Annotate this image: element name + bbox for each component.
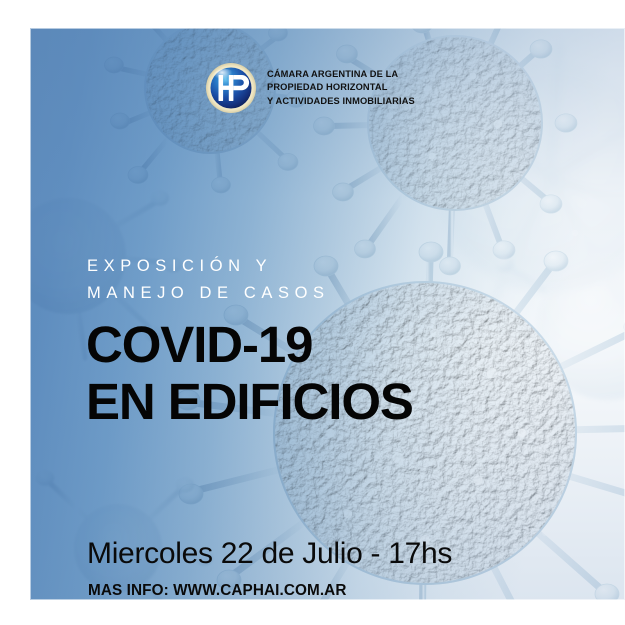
kicker-line-2: MANEJO DE CASOS (87, 280, 330, 307)
poster-content: CÁMARA ARGENTINA DE LA PROPIEDAD HORIZON… (30, 28, 625, 600)
headline-text: COVID-19 EN EDIFICIOS (86, 316, 413, 430)
headline-line-1: COVID-19 (86, 316, 413, 373)
event-date-line: Miercoles 22 de Julio - 17hs (87, 537, 452, 571)
poster-canvas: CÁMARA ARGENTINA DE LA PROPIEDAD HORIZON… (0, 0, 625, 625)
more-info-line: MAS INFO: WWW.CAPHAI.COM.AR (88, 582, 346, 600)
org-name-line-3: Y ACTIVIDADES INMOBILIARIAS (267, 95, 415, 108)
kicker-line-1: EXPOSICIÓN Y (87, 253, 330, 280)
caphai-sphere-logo-icon (205, 62, 257, 114)
org-name-line-1: CÁMARA ARGENTINA DE LA (267, 68, 415, 81)
kicker-text: EXPOSICIÓN Y MANEJO DE CASOS (87, 253, 330, 306)
logo-lockup: CÁMARA ARGENTINA DE LA PROPIEDAD HORIZON… (205, 62, 415, 114)
poster-artboard: CÁMARA ARGENTINA DE LA PROPIEDAD HORIZON… (30, 28, 625, 600)
headline-line-2: EN EDIFICIOS (86, 373, 413, 430)
organization-name: CÁMARA ARGENTINA DE LA PROPIEDAD HORIZON… (267, 68, 415, 108)
org-name-line-2: PROPIEDAD HORIZONTAL (267, 81, 415, 94)
